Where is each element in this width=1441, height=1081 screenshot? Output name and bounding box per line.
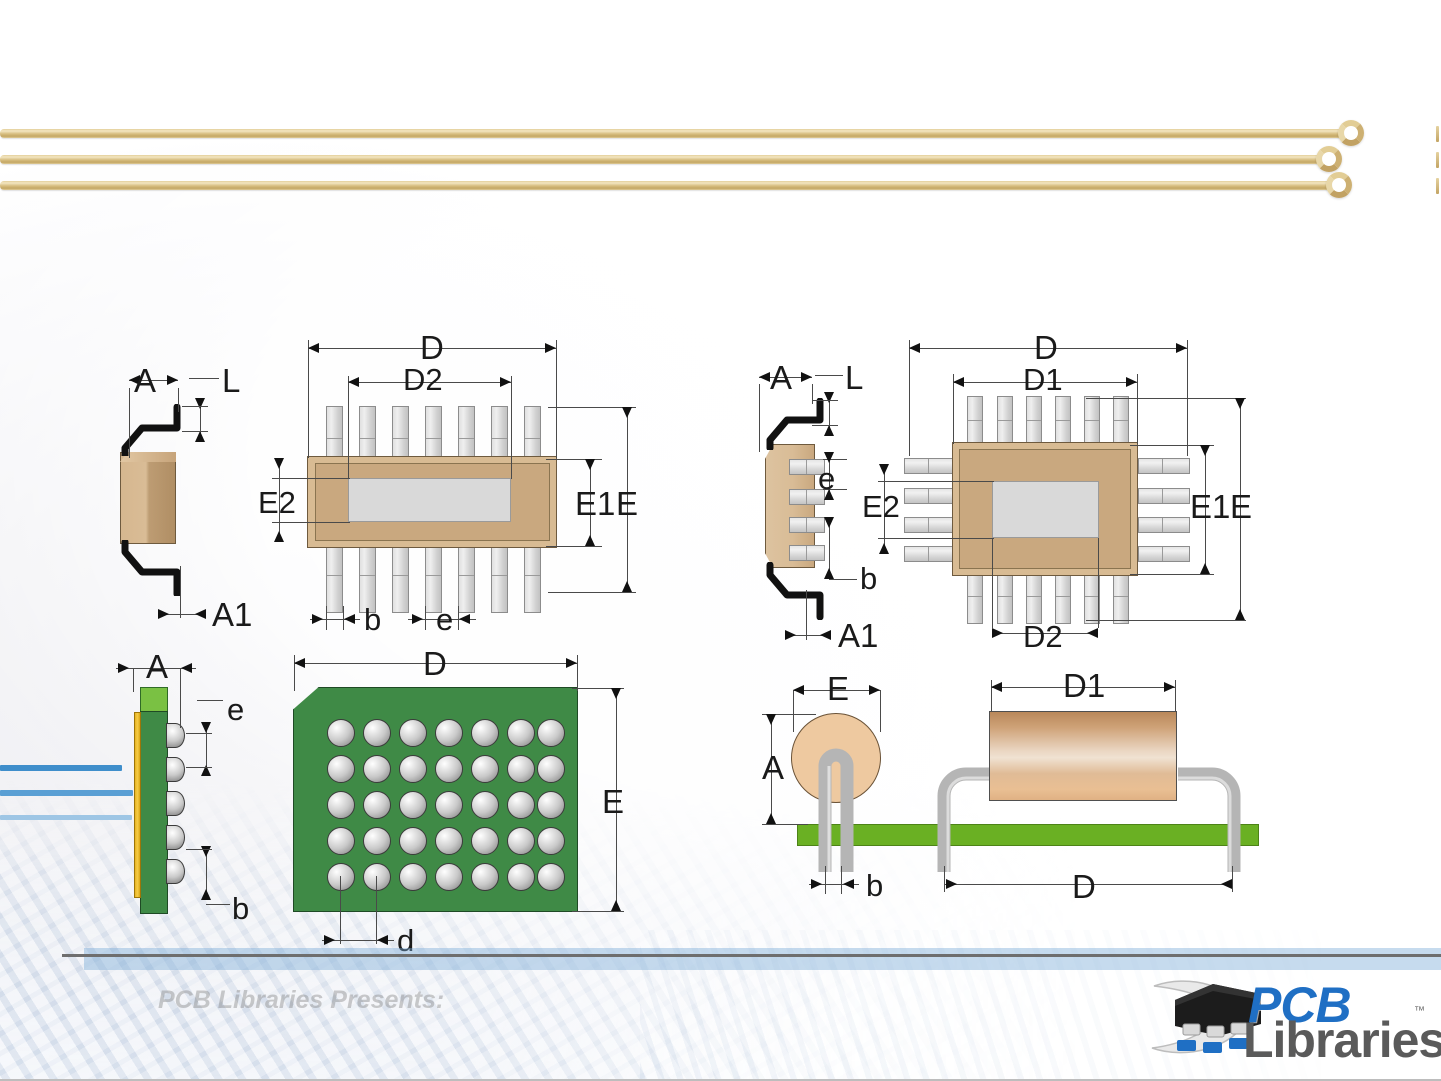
qfp-arrow-E1-top: [1200, 445, 1210, 456]
bga-ext-b-upper: [186, 849, 212, 850]
res-arrow-D1-right: [1164, 682, 1175, 692]
bga-arrow-E-top: [611, 688, 621, 699]
qfp-ext-E-top: [1086, 398, 1246, 399]
footer-divider: [62, 954, 1441, 957]
soic-label-A1: A1: [212, 598, 252, 631]
qfp-lead-top-4: [1055, 396, 1071, 448]
res-label-E: E: [827, 672, 849, 705]
soic-lead-bot-7: [524, 543, 541, 613]
soic-arrow-D-left: [308, 343, 319, 353]
bga-ball-r4c3: [399, 827, 427, 855]
bga-label-A: A: [146, 650, 168, 683]
bga-arrow-e-top: [201, 722, 211, 733]
res-ext-D1-right: [1175, 680, 1176, 712]
bga-side-ball-1: [166, 723, 185, 748]
soic-ext-b-left: [326, 606, 327, 630]
bga-ball-r4c7: [537, 827, 565, 855]
bga-ball-r4c2: [363, 827, 391, 855]
soic-label-e: e: [436, 604, 453, 635]
soic-arrow-A1-left: [158, 609, 169, 619]
qfp-arrow-b-top: [824, 517, 834, 528]
soic-arrow-b-right: [344, 614, 355, 624]
res-ext-b-right: [841, 866, 842, 894]
bga-ball-r1c1: [327, 719, 355, 747]
qfp-lead-bot-4: [1055, 572, 1071, 624]
bga-ball-r1c5: [471, 719, 499, 747]
soic-ext-E2-top: [272, 478, 350, 479]
bga-ext-d-right: [376, 876, 377, 944]
qfp-lead-top-5: [1084, 396, 1100, 448]
soic-ext-L-upper: [182, 406, 208, 407]
bga-side-ball-3: [166, 791, 185, 816]
qfp-arrow-D1-left: [953, 377, 964, 387]
bga-ball-r2c6: [507, 755, 535, 783]
soic-ext-L-lower: [182, 431, 208, 432]
qfp-arrow-L-top: [824, 392, 834, 403]
qfp-arrow-D-left: [909, 343, 920, 353]
qfp-lead-bot-3: [1026, 572, 1042, 624]
brand-name-libraries: Libraries: [1243, 1011, 1441, 1069]
res-arrow-b-right: [843, 879, 854, 889]
soic-arrow-b-left: [312, 614, 323, 624]
qfp-leader-b: [829, 579, 857, 580]
bga-ball-r3c3: [399, 791, 427, 819]
qfp-arrow-b-bot: [824, 568, 834, 579]
qfp-lead-bot-1: [967, 572, 983, 624]
soic-ext-E-bot: [548, 592, 636, 593]
qfp-arrow-A-left: [759, 372, 770, 382]
bga-ball-r5c1: [327, 863, 355, 891]
qfp-side-lead-3: [789, 517, 825, 533]
footer-accent-band: [84, 948, 1441, 970]
bga-arrow-b-top: [201, 846, 211, 857]
qfp-arrow-E1-bot: [1200, 563, 1210, 574]
bga-ball-r2c4: [435, 755, 463, 783]
background-accent-line-2: [0, 790, 133, 796]
bga-ext-d-left: [340, 876, 341, 944]
probe-tick-2: [1436, 152, 1439, 168]
soic-arrow-E-top: [622, 407, 632, 418]
soic-arrow-E2-bot: [274, 531, 284, 542]
soic-label-D2: D2: [403, 364, 443, 395]
soic-lead-bot-3: [392, 543, 409, 613]
bga-substrate-side: [140, 711, 168, 914]
soic-lead-bottom: [120, 540, 200, 596]
bga-ball-r1c7: [537, 719, 565, 747]
bga-label-D: D: [423, 647, 447, 680]
spring-probe-pin-shaft-1: [0, 129, 1344, 138]
qfp-lead-bot-2: [997, 572, 1013, 624]
bga-ext-e-upper: [186, 733, 212, 734]
resistor-end-lead: [816, 748, 856, 872]
qfp-label-A1: A1: [838, 619, 878, 652]
qfp-label-D1: D1: [1023, 364, 1063, 395]
qfp-ext-L-lower: [812, 425, 838, 426]
bga-ball-r3c5: [471, 791, 499, 819]
spring-probe-pin-eye-2: [1316, 146, 1342, 172]
qfp-ext-D-left: [909, 340, 910, 456]
soic-lead-top: [120, 404, 200, 456]
bga-ball-r3c4: [435, 791, 463, 819]
res-arrow-A-bot: [766, 813, 776, 824]
res-ext-E-right: [880, 690, 881, 732]
soic-ext-E2-bot: [272, 522, 350, 523]
qfp-lead-right-4: [1138, 546, 1190, 562]
res-arrow-D-right: [1221, 879, 1232, 889]
res-ext-D-left: [944, 866, 945, 892]
soic-arrow-e-left: [412, 614, 423, 624]
res-arrow-E-right: [869, 685, 880, 695]
bga-ball-r3c1: [327, 791, 355, 819]
bga-arrow-b-bot: [201, 889, 211, 900]
qfp-label-A: A: [770, 361, 792, 394]
soic-arrow-D2-left: [348, 377, 359, 387]
bga-arrow-d-left: [324, 935, 335, 945]
res-arrow-E-left: [793, 685, 804, 695]
qfp-thermal-pad: [992, 481, 1099, 538]
spring-probe-pin-shaft-2: [0, 155, 1322, 164]
soic-label-D: D: [420, 331, 444, 364]
soic-label-A: A: [134, 364, 156, 397]
qfp-lead-top-3: [1026, 396, 1042, 448]
qfp-arrow-A-right: [801, 372, 812, 382]
res-label-b: b: [866, 870, 883, 901]
soic-leader-L: [189, 378, 219, 379]
qfp-label-b: b: [860, 563, 877, 594]
res-arrow-D1-left: [991, 682, 1002, 692]
qfp-arrow-E2-top: [879, 464, 889, 475]
bga-arrow-A-right: [181, 663, 192, 673]
qfp-lead-right-2: [1138, 488, 1190, 504]
soic-ext-e-left: [425, 606, 426, 630]
soic-label-E1: E1: [575, 487, 615, 520]
bga-ext-A-left: [133, 668, 134, 692]
soic-arrow-E1-top: [585, 459, 595, 470]
slide-canvas: A L A1: [0, 0, 1441, 1081]
qfp-lead-left-3: [904, 517, 956, 533]
qfp-lead-right-3: [1138, 517, 1190, 533]
soic-arrow-e-right: [459, 614, 470, 624]
bga-ball-r2c7: [537, 755, 565, 783]
soic-thermal-pad: [348, 478, 511, 522]
bga-top-cap: [140, 687, 168, 713]
qfp-lead-top-1: [967, 396, 983, 448]
qfp-lead-right-1: [1138, 458, 1190, 474]
qfp-side-lead-4: [789, 545, 825, 561]
bga-leader-b: [206, 904, 230, 905]
qfp-label-D2: D2: [1023, 621, 1063, 652]
bga-ball-r3c2: [363, 791, 391, 819]
bga-ball-r2c2: [363, 755, 391, 783]
soic-ext-D2-right: [511, 376, 512, 479]
soic-ext-line-A-left: [129, 388, 130, 458]
background-accent-line-3: [0, 815, 132, 820]
soic-ext-line-A-right: [178, 388, 179, 412]
qfp-ext-E1-bot: [1130, 574, 1214, 575]
soic-arrow-E1-bot: [585, 535, 595, 546]
bga-ball-r5c6: [507, 863, 535, 891]
soic-lead-bot-6: [491, 543, 508, 613]
res-label-D1: D1: [1063, 669, 1105, 702]
bga-ball-r4c1: [327, 827, 355, 855]
bga-ball-r5c3: [399, 863, 427, 891]
qfp-label-L: L: [845, 361, 863, 394]
bga-ball-r2c1: [327, 755, 355, 783]
qfp-arrow-D-right: [1176, 343, 1187, 353]
soic-label-E2: E2: [258, 487, 296, 518]
bga-label-e: e: [227, 694, 244, 725]
soic-arrow-E2-top: [274, 458, 284, 469]
soic-ext-A1: [180, 566, 181, 618]
qfp-ext-E2-bot: [878, 538, 994, 539]
qfp-arrow-D1-right: [1126, 377, 1137, 387]
qfp-arrow-D2-left: [992, 628, 1003, 638]
soic-arrow-D-right: [545, 343, 556, 353]
qfp-arrow-D2-right: [1087, 628, 1098, 638]
resistor-lead-right: [1178, 760, 1248, 872]
bga-side-ball-5: [166, 859, 185, 884]
probe-tick-1: [1436, 126, 1439, 142]
qfp-arrow-A1-left: [785, 630, 796, 640]
qfp-leader-L: [815, 375, 843, 376]
spring-probe-pin-shaft-3: [0, 181, 1332, 190]
probe-tick-3: [1436, 178, 1439, 194]
qfp-label-E: E: [1230, 490, 1252, 523]
bga-ext-A-right: [180, 668, 181, 728]
qfp-label-D: D: [1034, 331, 1058, 364]
bga-arrow-D-right: [566, 658, 577, 668]
qfp-ext-D2-right: [1098, 538, 1099, 628]
qfp-ext-E-bot: [1086, 620, 1246, 621]
qfp-lead-top: [765, 398, 845, 450]
background-accent-line-1: [0, 765, 122, 771]
qfp-arrow-E-top: [1235, 398, 1245, 409]
qfp-ext-D1-right: [1137, 374, 1138, 444]
presenter-watermark: PCB Libraries Presents:: [158, 986, 444, 1015]
bga-ball-r1c6: [507, 719, 535, 747]
bga-side-ball-4: [166, 825, 185, 850]
res-label-A: A: [762, 751, 784, 784]
bga-ext-e-lower: [186, 767, 212, 768]
bga-ext-D-right: [577, 655, 578, 691]
bga-ball-r2c3: [399, 755, 427, 783]
resistor-body-cylinder: [989, 711, 1177, 801]
res-arrow-A-top: [766, 714, 776, 725]
qfp-ext-E2-top: [878, 481, 994, 482]
qfp-label-E2: E2: [862, 491, 900, 522]
soic-label-b: b: [364, 604, 381, 635]
qfp-lead-bot-6: [1113, 572, 1129, 624]
res-label-D: D: [1072, 870, 1096, 903]
soic-arrow-A-right: [167, 375, 178, 385]
soic-arrow-A1-right: [195, 609, 206, 619]
soic-ext-D-left: [308, 340, 309, 458]
res-ext-D-right: [1232, 866, 1233, 892]
soic-arrow-E-bot: [622, 581, 632, 592]
qfp-label-E1: E1: [1190, 490, 1230, 523]
bga-ball-r4c6: [507, 827, 535, 855]
bga-ball-r1c4: [435, 719, 463, 747]
bga-ball-r5c7: [537, 863, 565, 891]
soic-ext-D2-left: [348, 376, 349, 479]
qfp-lead-left-1: [904, 458, 956, 474]
bga-ball-r5c2: [363, 863, 391, 891]
res-arrow-b-left: [811, 879, 822, 889]
bga-label-b: b: [232, 893, 249, 924]
qfp-arrow-E-bot: [1235, 609, 1245, 620]
soic-body-side: [120, 452, 176, 544]
soic-arrow-L-top: [195, 398, 205, 409]
bga-ext-E-bot: [572, 911, 624, 912]
bga-ball-r3c7: [537, 791, 565, 819]
bga-ball-r1c3: [399, 719, 427, 747]
soic-label-L: L: [222, 364, 240, 397]
qfp-lead-left-4: [904, 546, 956, 562]
qfp-arrow-A1-right: [820, 630, 831, 640]
qfp-arrow-L-bot: [824, 425, 834, 436]
soic-lead-bot-1: [326, 543, 343, 613]
qfp-lead-left-2: [904, 488, 956, 504]
bga-gold-trace: [134, 712, 141, 898]
qfp-label-e: e: [818, 463, 835, 494]
bga-side-ball-2: [166, 757, 185, 782]
bga-ball-r1c2: [363, 719, 391, 747]
res-ext-A-bot: [762, 824, 808, 825]
bga-ball-r2c5: [471, 755, 499, 783]
bga-label-E: E: [602, 785, 624, 818]
qfp-ext-A-right: [812, 384, 813, 404]
bga-ball-r4c4: [435, 827, 463, 855]
brand-trademark: ™: [1414, 1005, 1425, 1017]
spring-probe-pin-eye-3: [1326, 172, 1352, 198]
bga-ball-r5c5: [471, 863, 499, 891]
soic-ext-D-right: [556, 340, 557, 458]
qfp-lead-top-6: [1113, 396, 1129, 448]
res-ext-E-left: [793, 690, 794, 732]
bga-arrow-D-left: [294, 658, 305, 668]
bga-arrow-A-left: [118, 663, 129, 673]
soic-lead-bot-5: [458, 543, 475, 613]
bga-leader-e: [197, 700, 223, 701]
bga-ball-r3c6: [507, 791, 535, 819]
qfp-lead-top-2: [997, 396, 1013, 448]
qfp-arrow-E2-bot: [879, 543, 889, 554]
bga-ball-r4c5: [471, 827, 499, 855]
qfp-ext-A1: [806, 590, 807, 640]
bga-ball-r5c4: [435, 863, 463, 891]
soic-label-E: E: [616, 487, 638, 520]
soic-arrow-L-bot: [195, 431, 205, 442]
qfp-ext-D2-left: [992, 538, 993, 628]
res-arrow-D-left: [946, 879, 957, 889]
bga-arrow-d-right: [377, 935, 388, 945]
bga-arrow-E-bot: [611, 900, 621, 911]
spring-probe-pin-eye-1: [1338, 120, 1364, 146]
qfp-ext-A-left: [759, 384, 760, 452]
soic-arrow-D2-right: [500, 377, 511, 387]
qfp-ext-L-upper: [812, 400, 838, 401]
soic-ext-E1-bot: [546, 546, 602, 547]
res-ext-b-left: [825, 866, 826, 894]
